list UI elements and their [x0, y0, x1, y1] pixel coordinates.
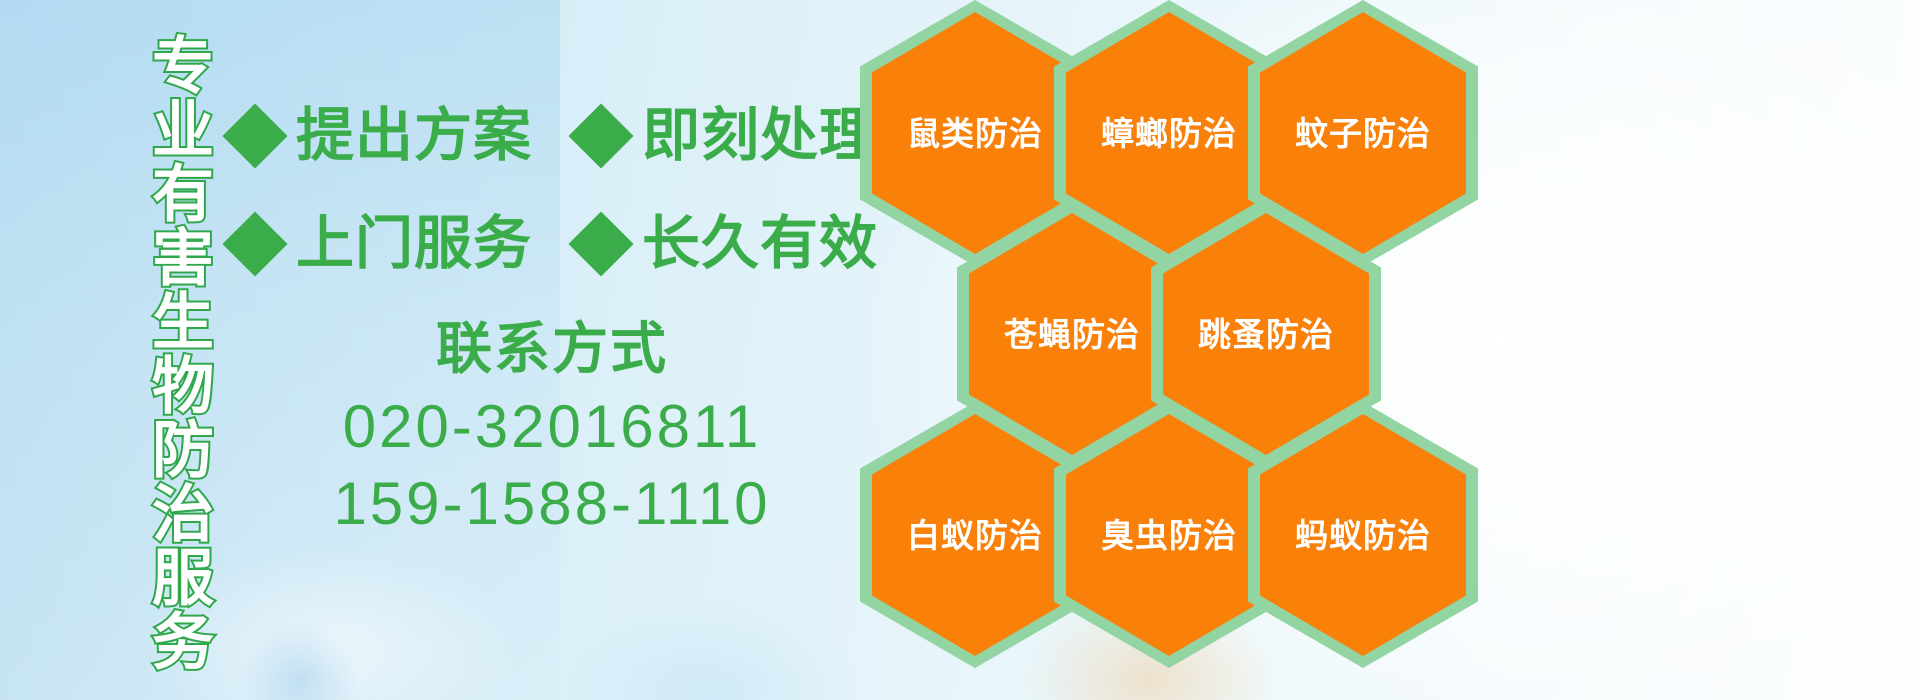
hex-cell-ant[interactable]: 蚂蚁防治	[1248, 402, 1478, 668]
service-hexagon-grid: 鼠类防治 蟑螂防治 蚊子防治 苍蝇防治 跳蚤防治 白蚁防治	[856, 0, 1496, 700]
feature-label: 即刻处理	[642, 107, 878, 165]
contact-heading: 联系方式	[436, 318, 668, 381]
hex-label: 跳蚤防治	[1198, 318, 1334, 351]
feature-label: 长久有效	[642, 215, 878, 273]
feature-row: 提出方案 即刻处理	[232, 82, 872, 190]
hex-label: 蚊子防治	[1295, 117, 1431, 150]
feature-item: 即刻处理	[578, 107, 878, 165]
hex-label: 苍蝇防治	[1004, 318, 1140, 351]
feature-list: 提出方案 即刻处理 上门服务 长久有效	[232, 82, 872, 298]
feature-item: 长久有效	[578, 215, 878, 273]
diamond-bullet-icon	[568, 211, 633, 276]
hex-label: 蟑螂防治	[1101, 117, 1237, 150]
hex-label: 白蚁防治	[907, 519, 1043, 552]
feature-row: 上门服务 长久有效	[232, 190, 872, 298]
hex-label: 蚂蚁防治	[1295, 519, 1431, 552]
diamond-bullet-icon	[222, 211, 287, 276]
hex-label: 臭虫防治	[1101, 519, 1237, 552]
hex-label: 鼠类防治	[907, 117, 1043, 150]
vertical-slogan: 专业有害生物防治服务	[112, 8, 208, 698]
feature-label: 上门服务	[296, 215, 532, 273]
background-blur-soft	[560, 600, 860, 700]
phone-number-landline[interactable]: 020-32016811	[343, 389, 762, 466]
promotional-banner: 专业有害生物防治服务 提出方案 即刻处理 上门服务 长久有效 联系方式	[0, 0, 1920, 700]
contact-block: 联系方式 020-32016811 159-1588-1110	[232, 318, 872, 542]
diamond-bullet-icon	[568, 103, 633, 168]
background-blur-accent	[240, 620, 360, 700]
feature-item: 提出方案	[232, 107, 532, 165]
diamond-bullet-icon	[222, 103, 287, 168]
feature-item: 上门服务	[232, 215, 532, 273]
phone-number-mobile[interactable]: 159-1588-1110	[333, 466, 770, 543]
feature-label: 提出方案	[296, 107, 532, 165]
